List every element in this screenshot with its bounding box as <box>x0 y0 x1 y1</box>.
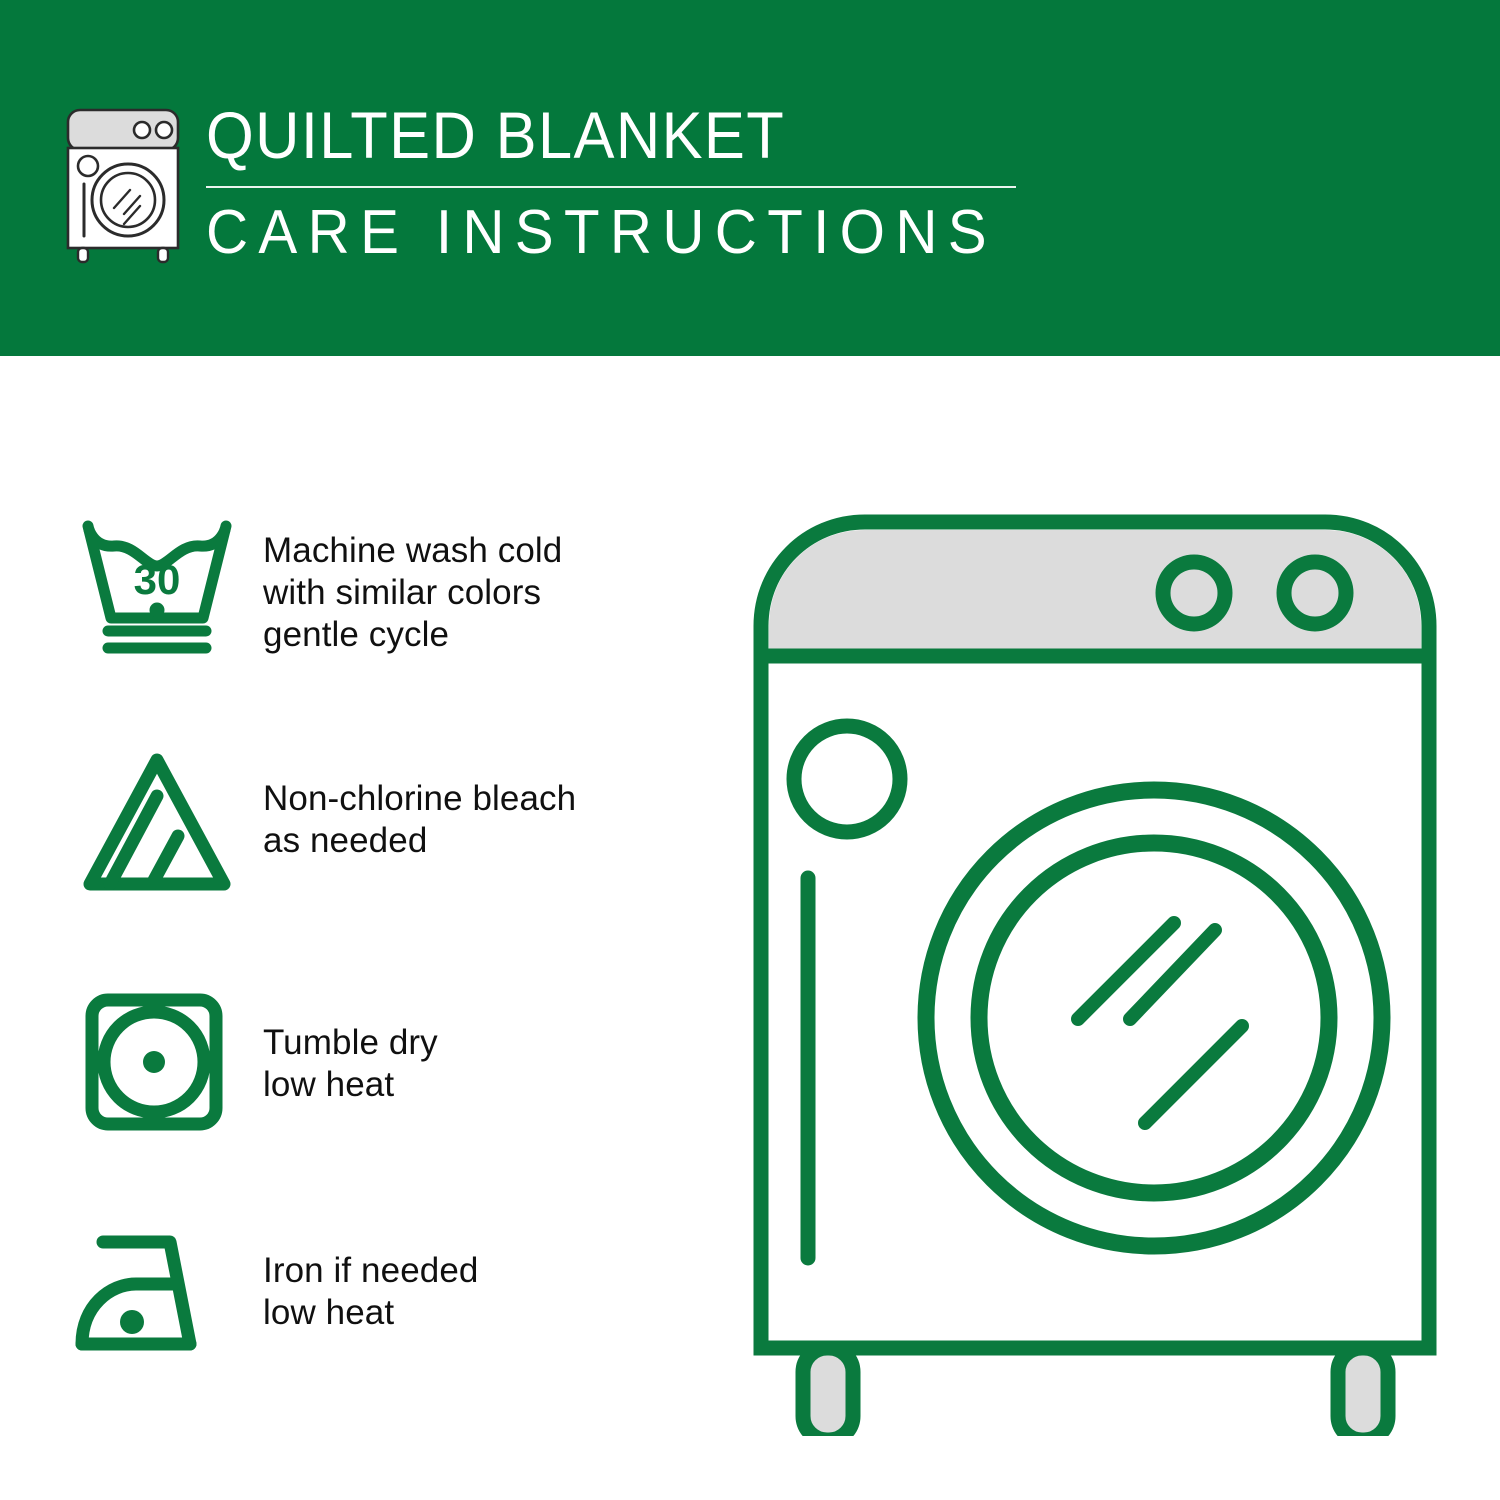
title-block: QUILTED BLANKET CARE INSTRUCTIONS <box>206 98 1016 268</box>
care-label-line: Non-chlorine bleach <box>263 778 576 820</box>
title-divider <box>206 186 1016 188</box>
knob-left <box>1163 562 1225 624</box>
care-label-line: low heat <box>263 1064 438 1106</box>
iron-icon <box>70 1226 245 1376</box>
care-label-line: Tumble dry <box>263 1022 438 1064</box>
knob-right <box>1284 562 1346 624</box>
drum-inner-circle <box>979 843 1329 1193</box>
care-label-bleach: Non-chlorine bleach as needed <box>245 746 576 862</box>
header-banner: QUILTED BLANKET CARE INSTRUCTIONS <box>0 0 1500 356</box>
page-subtitle: CARE INSTRUCTIONS <box>206 198 967 268</box>
care-row-iron: Iron if needed low heat <box>70 1226 710 1466</box>
care-row-bleach: Non-chlorine bleach as needed <box>70 746 710 986</box>
care-instruction-list: 30 Machine wash cold with similar colors… <box>70 506 710 1466</box>
washing-machine-icon <box>62 104 184 264</box>
main-content: 30 Machine wash cold with similar colors… <box>0 356 1500 1500</box>
wash-tub-icon: 30 <box>70 506 245 656</box>
care-label-line: with similar colors <box>263 572 562 614</box>
care-label-line: Iron if needed <box>263 1250 478 1292</box>
header-content: QUILTED BLANKET CARE INSTRUCTIONS <box>62 98 1016 268</box>
care-label-line: low heat <box>263 1292 478 1334</box>
care-label-iron: Iron if needed low heat <box>245 1226 478 1334</box>
care-label-line: Machine wash cold <box>263 530 562 572</box>
care-label-tumble-dry: Tumble dry low heat <box>245 986 438 1106</box>
wash-temperature-label: 30 <box>134 556 181 603</box>
dispenser-circle <box>794 726 900 832</box>
leg-left <box>803 1348 853 1436</box>
care-label-line: as needed <box>263 820 576 862</box>
care-label-wash: Machine wash cold with similar colors ge… <box>245 506 562 656</box>
leg-right <box>1338 1348 1388 1436</box>
bleach-triangle-icon <box>70 746 245 896</box>
care-row-tumble-dry: Tumble dry low heat <box>70 986 710 1226</box>
care-label-line: gentle cycle <box>263 614 562 656</box>
care-row-wash: 30 Machine wash cold with similar colors… <box>70 506 710 746</box>
tumble-dry-icon <box>70 986 245 1136</box>
washing-machine-illustration <box>745 506 1445 1436</box>
page-title: QUILTED BLANKET <box>206 98 959 172</box>
